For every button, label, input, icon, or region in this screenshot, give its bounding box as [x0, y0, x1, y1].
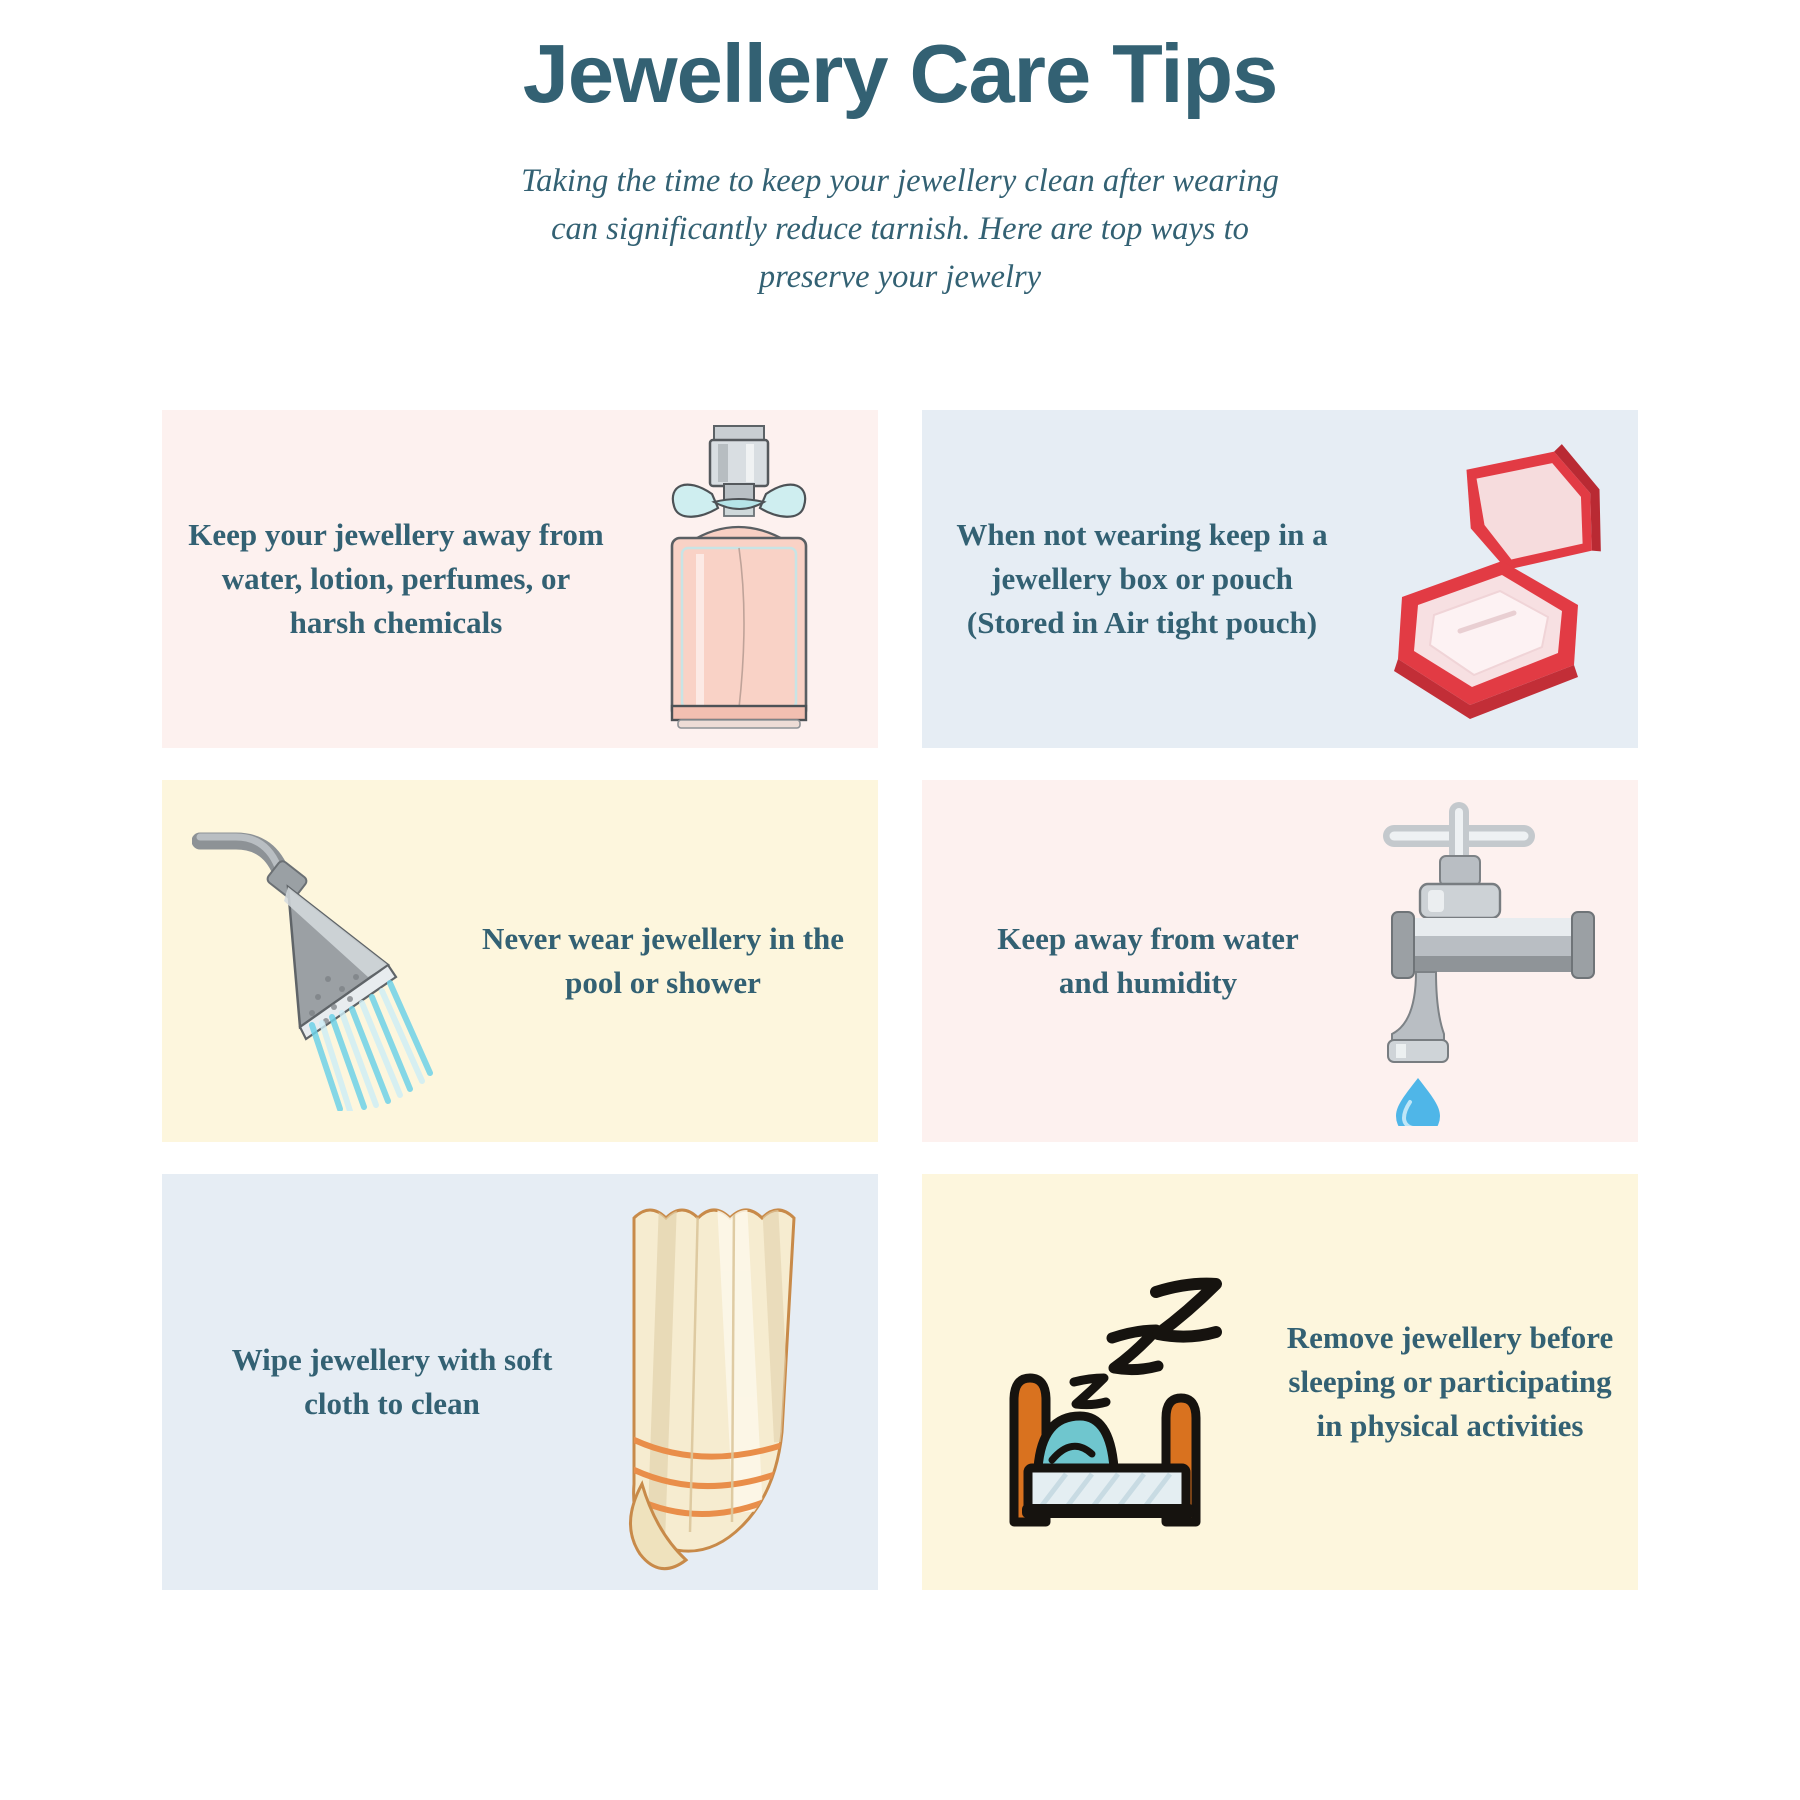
shower-head-icon — [192, 811, 452, 1111]
tips-grid: Keep your jewellery away from water, lot… — [162, 410, 1639, 1590]
page-subtitle: Taking the time to keep your jewellery c… — [500, 157, 1300, 301]
card-sleeping-text: Remove jewellery before sleeping or part… — [1280, 1316, 1620, 1448]
card-humidity-text: Keep away from water and humidity — [978, 917, 1318, 1005]
infographic-page: Jewellery Care Tips Taking the time to k… — [0, 0, 1800, 1800]
card-chemicals: Keep your jewellery away from water, lot… — [162, 410, 878, 748]
card-chemicals-text: Keep your jewellery away from water, lot… — [186, 513, 606, 645]
card-cloth: Wipe jewellery with soft cloth to clean — [162, 1174, 878, 1590]
ring-box-icon — [1342, 429, 1632, 729]
card-shower-text: Never wear jewellery in the pool or show… — [468, 917, 858, 1005]
card-storage-text: When not wearing keep in a jewellery box… — [942, 513, 1342, 645]
page-title: Jewellery Care Tips — [0, 28, 1800, 119]
card-cloth-text: Wipe jewellery with soft cloth to clean — [202, 1338, 582, 1426]
page-header: Jewellery Care Tips Taking the time to k… — [0, 0, 1800, 302]
card-storage: When not wearing keep in a jewellery box… — [922, 410, 1638, 748]
card-humidity: Keep away from water and humidity — [922, 780, 1638, 1142]
cloth-icon — [582, 1192, 852, 1572]
card-shower: Never wear jewellery in the pool or show… — [162, 780, 878, 1142]
card-sleeping: Remove jewellery before sleeping or part… — [922, 1174, 1638, 1590]
faucet-icon — [1328, 796, 1628, 1126]
perfume-bottle-icon — [606, 414, 871, 744]
sleeping-bed-icon — [962, 1232, 1252, 1532]
